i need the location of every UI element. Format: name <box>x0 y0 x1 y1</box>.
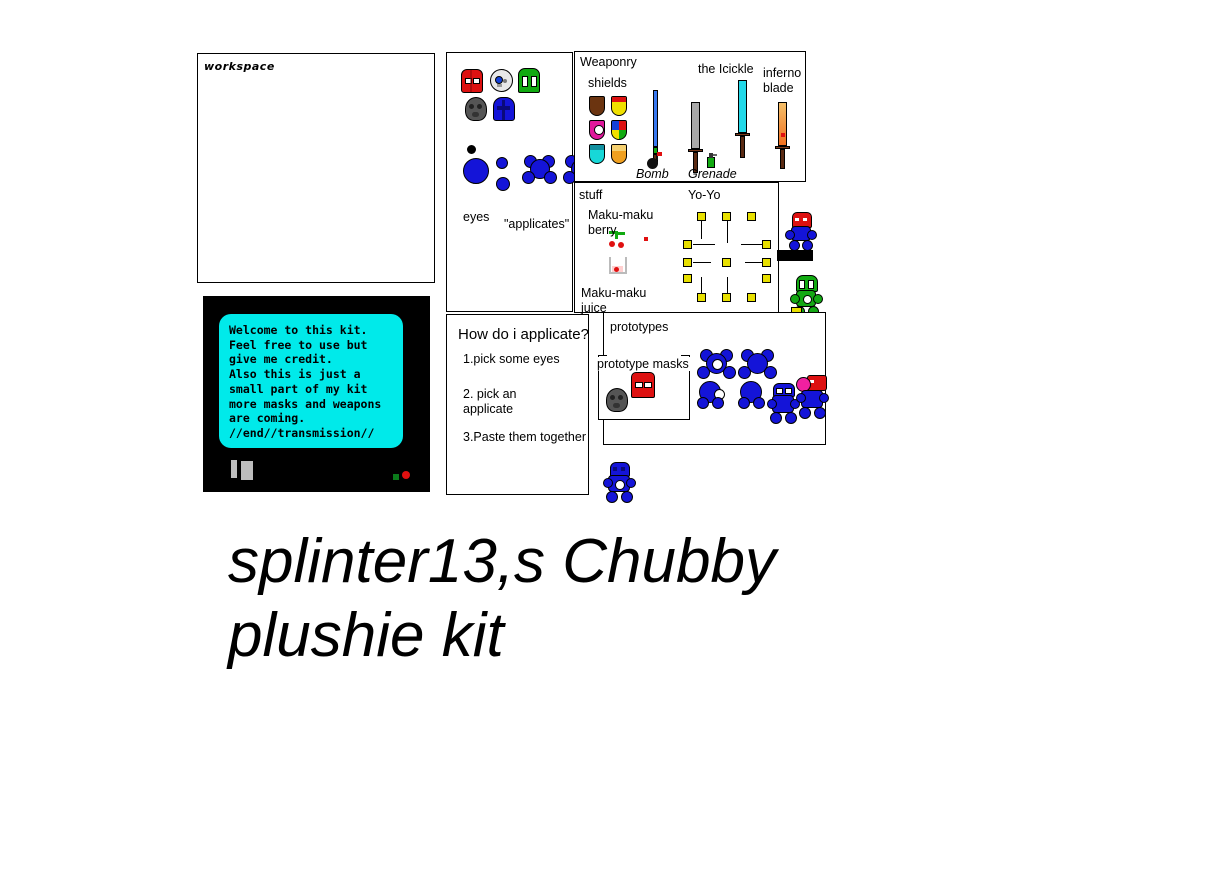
page-title: splinter13,s Chubby plushie kit <box>228 525 868 673</box>
howto-step-3: 3.Paste them together <box>463 430 586 444</box>
shield-orange-icon[interactable] <box>611 144 627 164</box>
pupil-part[interactable] <box>467 145 476 154</box>
mask-grey-icon[interactable] <box>465 97 487 121</box>
prototypes-title: prototypes <box>610 320 668 334</box>
howto-applicate-sample-b[interactable] <box>493 420 504 426</box>
workspace-panel[interactable] <box>197 53 435 283</box>
prototype-mask-grey-icon[interactable] <box>606 388 628 412</box>
character-red-mask-plushie[interactable] <box>785 212 819 256</box>
prototype-mask-red-icon[interactable] <box>631 372 655 398</box>
applicates-label: "applicates" <box>504 217 569 231</box>
eyes-label: eyes <box>463 210 489 224</box>
maku-maku-berry-label: Maku-maku berry <box>588 208 658 238</box>
weaponry-title: Weaponry <box>580 55 637 69</box>
bomb-icon[interactable] <box>647 152 663 168</box>
loose-plushie-sprite[interactable] <box>603 462 639 506</box>
terminal-button-left[interactable] <box>231 460 237 478</box>
stuff-title: stuff <box>579 188 602 202</box>
workspace-label: workspace <box>204 60 275 73</box>
yoyo-title: Yo-Yo <box>688 188 720 202</box>
plushie-body-part[interactable] <box>463 158 489 184</box>
howto-result-sample[interactable] <box>475 455 486 461</box>
prototype-plushie-f[interactable] <box>796 375 830 423</box>
terminal-device: Welcome to this kit. Feel free to use bu… <box>203 296 430 492</box>
bomb-label: Bomb <box>636 167 669 181</box>
mask-red-icon[interactable] <box>461 69 483 93</box>
inferno-blade-label: inferno blade <box>763 66 811 96</box>
howto-step-2: 2. pick an applicate <box>463 387 533 417</box>
terminal-screen: Welcome to this kit. Feel free to use bu… <box>219 314 403 448</box>
mask-green-icon[interactable] <box>518 68 540 93</box>
plushie-assembly-1[interactable] <box>520 153 560 193</box>
icickle-label: the Icickle <box>698 62 754 76</box>
grenade-label: Grenade <box>688 167 737 181</box>
parts-panel[interactable] <box>446 52 573 312</box>
mask-blue-icon[interactable] <box>493 97 515 121</box>
terminal-button-right[interactable] <box>241 461 253 480</box>
eyes-grid[interactable] <box>464 231 528 283</box>
shield-red-yellow-icon[interactable] <box>611 96 627 116</box>
howto-applicate-sample-a[interactable] <box>475 420 486 426</box>
prototype-plushie-c[interactable] <box>697 381 733 413</box>
shield-magenta-icon[interactable] <box>589 120 605 140</box>
power-led-green-icon <box>393 474 399 480</box>
howto-title: How do i applicate? <box>458 326 589 343</box>
mask-white-icon[interactable] <box>490 69 513 92</box>
shield-brown-icon[interactable] <box>589 96 605 116</box>
plushie-limb-part-b[interactable] <box>496 177 510 191</box>
howto-step-1: 1.pick some eyes <box>463 352 560 366</box>
shield-quad-icon[interactable] <box>611 120 627 140</box>
terminal-message: Welcome to this kit. Feel free to use bu… <box>229 323 401 441</box>
power-led-red-icon <box>402 471 410 479</box>
yoyo-parts-group[interactable] <box>683 211 773 303</box>
howto-eyes-sample[interactable] <box>475 373 486 379</box>
prototype-masks-label: prototype masks <box>596 357 690 371</box>
shield-cyan-icon[interactable] <box>589 144 605 164</box>
maku-maku-juice-icon[interactable] <box>609 257 627 276</box>
plushie-limb-part-a[interactable] <box>496 157 508 169</box>
shields-label: shields <box>588 76 627 90</box>
